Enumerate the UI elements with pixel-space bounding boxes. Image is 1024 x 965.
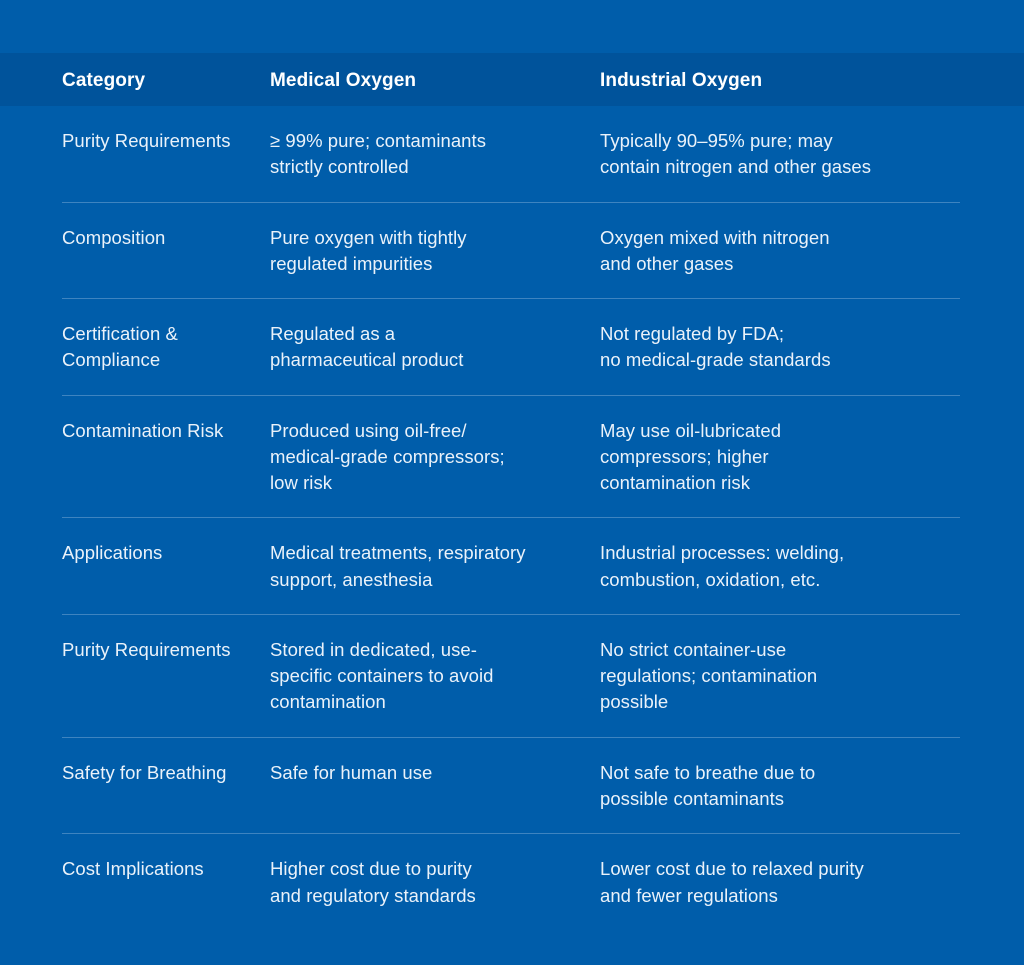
column-header-category: Category: [0, 53, 255, 106]
table-cell-medical: Medical treatments, respiratorysupport, …: [255, 518, 585, 615]
cell-text-line: Certification &: [62, 321, 237, 347]
cell-text-line: possible: [600, 689, 1004, 715]
cell-text-line: support, anesthesia: [270, 567, 565, 593]
cell-text-line: contamination: [270, 689, 565, 715]
cell-text-line: combustion, oxidation, etc.: [600, 567, 1004, 593]
cell-text-line: specific containers to avoid: [270, 663, 565, 689]
cell-text-line: contamination risk: [600, 470, 1004, 496]
table-cell-category: Certification &Compliance: [0, 299, 255, 396]
cell-text-line: May use oil-lubricated: [600, 418, 1004, 444]
cell-text-line: Safe for human use: [270, 760, 565, 786]
table-cell-medical: Produced using oil-free/medical-grade co…: [255, 396, 585, 519]
cell-text-line: Lower cost due to relaxed purity: [600, 856, 1004, 882]
table-row: Purity Requirements≥ 99% pure; contamina…: [0, 106, 1024, 203]
cell-text-line: medical-grade compressors;: [270, 444, 565, 470]
table-cell-category: Safety for Breathing: [0, 738, 255, 835]
table-cell-category: Cost Implications: [0, 834, 255, 931]
cell-text-line: Medical treatments, respiratory: [270, 540, 565, 566]
table-cell-category: Purity Requirements: [0, 615, 255, 738]
cell-text-line: Oxygen mixed with nitrogen: [600, 225, 1004, 251]
cell-text-line: Higher cost due to purity: [270, 856, 565, 882]
cell-text-line: and other gases: [600, 251, 1004, 277]
table-cell-category: Contamination Risk: [0, 396, 255, 519]
cell-text-line: regulated impurities: [270, 251, 565, 277]
cell-text-line: Produced using oil-free/: [270, 418, 565, 444]
header-row: Category Medical Oxygen Industrial Oxyge…: [0, 53, 1024, 106]
table-cell-medical: Regulated as apharmaceutical product: [255, 299, 585, 396]
table-cell-category: Applications: [0, 518, 255, 615]
table-cell-industrial: Lower cost due to relaxed purityand fewe…: [585, 834, 1024, 931]
cell-text-line: pharmaceutical product: [270, 347, 565, 373]
table-cell-medical: Higher cost due to purityand regulatory …: [255, 834, 585, 931]
cell-text-line: Pure oxygen with tightly: [270, 225, 565, 251]
cell-text-line: low risk: [270, 470, 565, 496]
table-cell-category: Composition: [0, 203, 255, 300]
cell-text-line: and fewer regulations: [600, 883, 1004, 909]
table-cell-medical: ≥ 99% pure; contaminantsstrictly control…: [255, 106, 585, 203]
table-cell-category: Purity Requirements: [0, 106, 255, 203]
cell-text-line: contain nitrogen and other gases: [600, 154, 1004, 180]
bottom-spacer: [0, 931, 1024, 965]
table-body: Purity Requirements≥ 99% pure; contamina…: [0, 106, 1024, 931]
cell-text-line: compressors; higher: [600, 444, 1004, 470]
cell-text-line: and regulatory standards: [270, 883, 565, 909]
cell-text-line: Regulated as a: [270, 321, 565, 347]
table-row: Safety for BreathingSafe for human useNo…: [0, 738, 1024, 835]
cell-text-line: no medical-grade standards: [600, 347, 1004, 373]
table-cell-industrial: Not regulated by FDA;no medical-grade st…: [585, 299, 1024, 396]
table-row: Certification &ComplianceRegulated as ap…: [0, 299, 1024, 396]
comparison-table-container: Category Medical Oxygen Industrial Oxyge…: [0, 0, 1024, 884]
table-cell-industrial: Industrial processes: welding,combustion…: [585, 518, 1024, 615]
column-header-medical-oxygen: Medical Oxygen: [255, 53, 585, 106]
cell-text-line: No strict container-use: [600, 637, 1004, 663]
table-header: Category Medical Oxygen Industrial Oxyge…: [0, 53, 1024, 106]
table-row: ApplicationsMedical treatments, respirat…: [0, 518, 1024, 615]
table-row: Purity RequirementsStored in dedicated, …: [0, 615, 1024, 738]
column-header-industrial-oxygen: Industrial Oxygen: [585, 53, 1024, 106]
table-row: CompositionPure oxygen with tightlyregul…: [0, 203, 1024, 300]
table-cell-industrial: Typically 90–95% pure; maycontain nitrog…: [585, 106, 1024, 203]
table-cell-industrial: May use oil-lubricatedcompressors; highe…: [585, 396, 1024, 519]
cell-text-line: strictly controlled: [270, 154, 565, 180]
oxygen-comparison-table: Category Medical Oxygen Industrial Oxyge…: [0, 53, 1024, 931]
cell-text-line: Not regulated by FDA;: [600, 321, 1004, 347]
table-cell-medical: Stored in dedicated, use-specific contai…: [255, 615, 585, 738]
table-row: Cost ImplicationsHigher cost due to puri…: [0, 834, 1024, 931]
cell-text-line: Industrial processes: welding,: [600, 540, 1004, 566]
cell-text-line: ≥ 99% pure; contaminants: [270, 128, 565, 154]
cell-text-line: Compliance: [62, 347, 237, 373]
cell-text-line: Not safe to breathe due to: [600, 760, 1004, 786]
column-header-industrial-oxygen-label: Industrial Oxygen: [585, 68, 1024, 92]
cell-text-line: Typically 90–95% pure; may: [600, 128, 1004, 154]
table-cell-industrial: Not safe to breathe due topossible conta…: [585, 738, 1024, 835]
column-header-medical-oxygen-label: Medical Oxygen: [255, 68, 585, 92]
cell-text-line: possible contaminants: [600, 786, 1004, 812]
top-spacer: [0, 0, 1024, 53]
table-cell-medical: Safe for human use: [255, 738, 585, 835]
table-cell-industrial: Oxygen mixed with nitrogenand other gase…: [585, 203, 1024, 300]
column-header-category-label: Category: [0, 68, 255, 92]
table-cell-medical: Pure oxygen with tightlyregulated impuri…: [255, 203, 585, 300]
cell-text-line: regulations; contamination: [600, 663, 1004, 689]
cell-text-line: Stored in dedicated, use-: [270, 637, 565, 663]
table-row: Contamination RiskProduced using oil-fre…: [0, 396, 1024, 519]
table-cell-industrial: No strict container-useregulations; cont…: [585, 615, 1024, 738]
